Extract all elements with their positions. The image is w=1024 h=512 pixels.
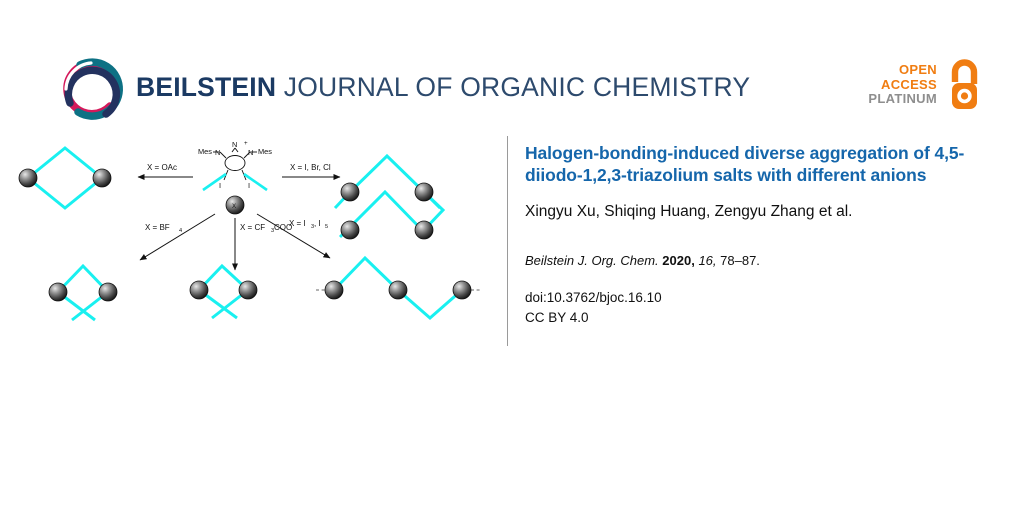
label-n-right: N	[248, 148, 253, 157]
label-positive-charge: +	[244, 140, 248, 147]
journal-title: BEILSTEIN JOURNAL OF ORGANIC CHEMISTRY	[136, 72, 750, 103]
open-access-badge: OPEN ACCESS PLATINUM	[868, 58, 984, 112]
label-n-left: N	[215, 148, 220, 157]
article-title: Halogen-bonding-induced diverse aggregat…	[525, 142, 975, 186]
aggregate-zigzag-left	[49, 266, 117, 320]
reaction-polyiodide-label: X = I	[289, 219, 306, 228]
citation-year: 2020,	[662, 253, 695, 268]
label-mes-right: Mes	[258, 147, 272, 156]
label-iodine-left: I	[219, 181, 221, 190]
reaction-bf4-label: X = BF	[145, 223, 170, 232]
beilstein-circles-logo	[58, 56, 126, 124]
label-n-top: N	[232, 140, 237, 149]
reaction-oac: X = OAc	[138, 163, 193, 177]
article-authors: Xingyu Xu, Shiqing Huang, Zengyu Zhang e…	[525, 202, 975, 222]
page-header: BEILSTEIN JOURNAL OF ORGANIC CHEMISTRY O…	[0, 0, 1024, 130]
aggregate-dimer-diamond	[19, 148, 111, 208]
label-anion-x: X	[232, 203, 236, 210]
graphical-abstract: Mes Mes N N N + I I X X = OAc X = I, Br,…	[0, 130, 500, 370]
open-lock-icon	[944, 58, 984, 112]
reaction-cf3coo-label: X = CF	[240, 223, 265, 232]
reaction-bf4: X = BF 4	[140, 214, 215, 260]
aggregate-network-large	[335, 156, 443, 239]
panel-divider	[507, 136, 508, 346]
reaction-polyiodide-sub2: 5	[325, 224, 328, 230]
article-info: Halogen-bonding-induced diverse aggregat…	[525, 142, 975, 328]
aggregate-zigzag-mid	[190, 266, 257, 318]
article-license[interactable]: CC BY 4.0	[525, 308, 975, 328]
journal-brand: BEILSTEIN	[136, 72, 276, 102]
reaction-halide: X = I, Br, Cl	[282, 163, 340, 177]
center-molecule: Mes Mes N N N + I I X	[198, 140, 272, 214]
reaction-polyiodide-tail: , I	[314, 219, 321, 228]
citation-volume: 16,	[698, 253, 716, 268]
reaction-cf3coo: X = CF 3 COO	[235, 218, 292, 270]
article-doi[interactable]: doi:10.3762/bjoc.16.10	[525, 288, 975, 308]
reaction-polyiodide: X = I 3 , I 5	[257, 214, 330, 258]
open-access-line-platinum: PLATINUM	[868, 92, 937, 107]
reaction-oac-label: X = OAc	[147, 163, 177, 172]
open-access-line-access: ACCESS	[881, 78, 937, 93]
open-access-line-open: OPEN	[899, 63, 937, 78]
aggregate-polymer-chain	[316, 258, 482, 318]
journal-subtitle: JOURNAL OF ORGANIC CHEMISTRY	[276, 72, 750, 102]
label-mes-left: Mes	[198, 147, 212, 156]
label-iodine-right: I	[248, 181, 250, 190]
open-access-text: OPEN ACCESS PLATINUM	[868, 63, 937, 107]
reaction-halide-label: X = I, Br, Cl	[290, 163, 331, 172]
citation-pages: 78–87.	[720, 253, 760, 268]
reaction-bf4-sub: 4	[179, 228, 182, 234]
article-citation: Beilstein J. Org. Chem. 2020, 16, 78–87.	[525, 252, 975, 270]
citation-journal: Beilstein J. Org. Chem.	[525, 253, 659, 268]
